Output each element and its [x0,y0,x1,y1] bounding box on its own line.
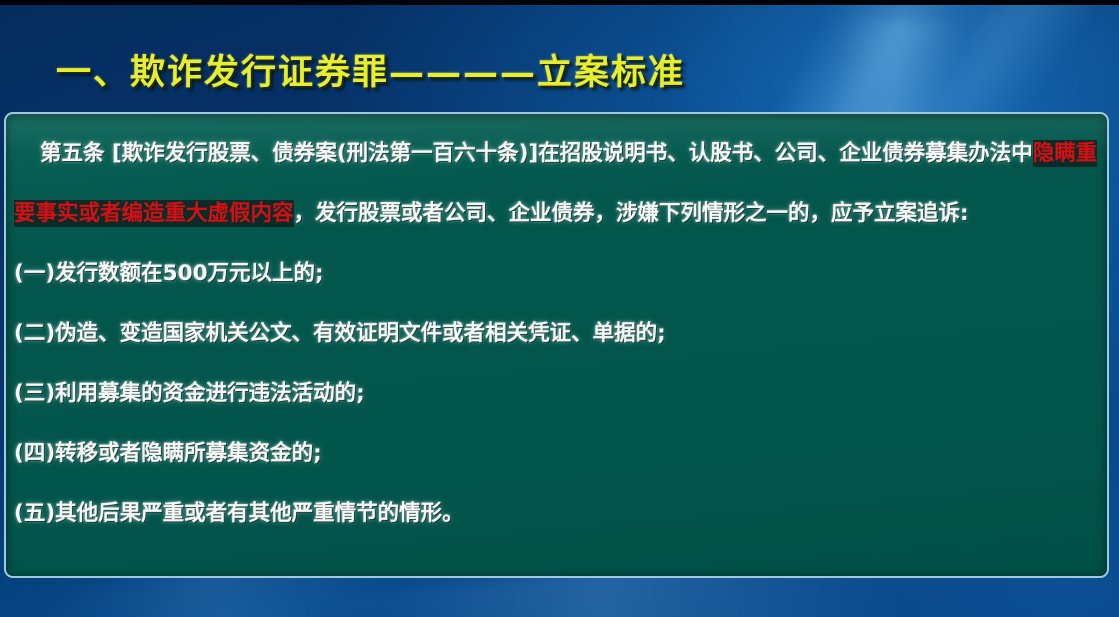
list-item: (五)其他后果严重或者有其他严重情节的情形。 [12,484,1101,544]
content-panel: 第五条 [欺诈发行股票、债券案(刑法第一百六十条)]在招股说明书、认股书、公司、… [4,112,1109,578]
paragraph-article-five: 第五条 [欺诈发行股票、债券案(刑法第一百六十条)]在招股说明书、认股书、公司、… [12,124,1101,244]
slide-title: 一、欺诈发行证券罪————立案标准 [56,44,685,95]
list-item: (一)发行数额在500万元以上的; [12,244,1101,304]
paragraph-text-before-highlight: 第五条 [欺诈发行股票、债券案(刑法第一百六十条)]在招股说明书、认股书、公司、… [40,141,1033,166]
paragraph-text-after-highlight: ，发行股票或者公司、企业债券，涉嫌下列情形之一的，应予立案追诉: [294,201,969,226]
presentation-slide: 一、欺诈发行证券罪————立案标准 第五条 [欺诈发行股票、债券案(刑法第一百六… [0,0,1119,617]
top-black-strip [0,0,1119,5]
legal-text-body: 第五条 [欺诈发行股票、债券案(刑法第一百六十条)]在招股说明书、认股书、公司、… [12,124,1101,544]
list-item: (三)利用募集的资金进行违法活动的; [12,364,1101,424]
list-item: (四)转移或者隐瞒所募集资金的; [12,424,1101,484]
list-item: (二)伪造、变造国家机关公文、有效证明文件或者相关凭证、单据的; [12,304,1101,364]
